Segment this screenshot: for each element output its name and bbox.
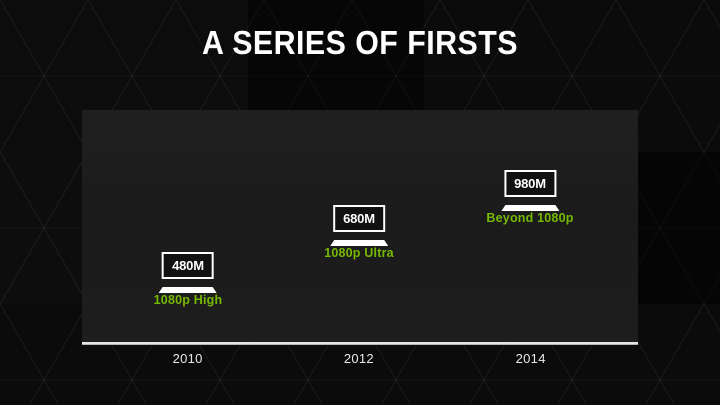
laptop-icon: 980M [501,170,559,206]
laptop-icon: 680M [330,205,388,241]
axis-tick-labels: 2010 2012 2014 [82,351,638,373]
laptop-screen: 480M [162,252,214,279]
laptop-base-shape [159,287,217,293]
milestone-caption: 1080p Ultra [324,246,394,260]
laptop-base-shape [501,205,559,211]
milestone-item[interactable]: 980M Beyond 1080p [486,170,573,225]
laptop-base-shape [330,240,388,246]
laptop-base [330,233,388,239]
page-title: A SERIES OF FIRSTS [29,24,691,62]
milestone-caption: 1080p High [154,293,223,307]
milestone-caption: Beyond 1080p [486,211,573,225]
laptop-icon: 480M [159,252,217,288]
timeline-axis [82,342,638,345]
axis-tick-2010: 2010 [173,351,203,366]
axis-tick-2014: 2014 [516,351,546,366]
bg-block [0,152,88,304]
laptop-screen: 980M [504,170,556,197]
axis-tick-2012: 2012 [344,351,374,366]
milestone-item[interactable]: 680M 1080p Ultra [324,205,394,260]
gpu-model-label: 480M [172,259,204,272]
slide-canvas: A SERIES OF FIRSTS 480M 1080p High 680M [0,0,720,405]
laptop-base [159,280,217,286]
laptop-screen: 680M [333,205,385,232]
laptop-base [501,198,559,204]
gpu-model-label: 680M [343,212,375,225]
milestone-item[interactable]: 480M 1080p High [154,252,223,307]
gpu-model-label: 980M [514,177,546,190]
